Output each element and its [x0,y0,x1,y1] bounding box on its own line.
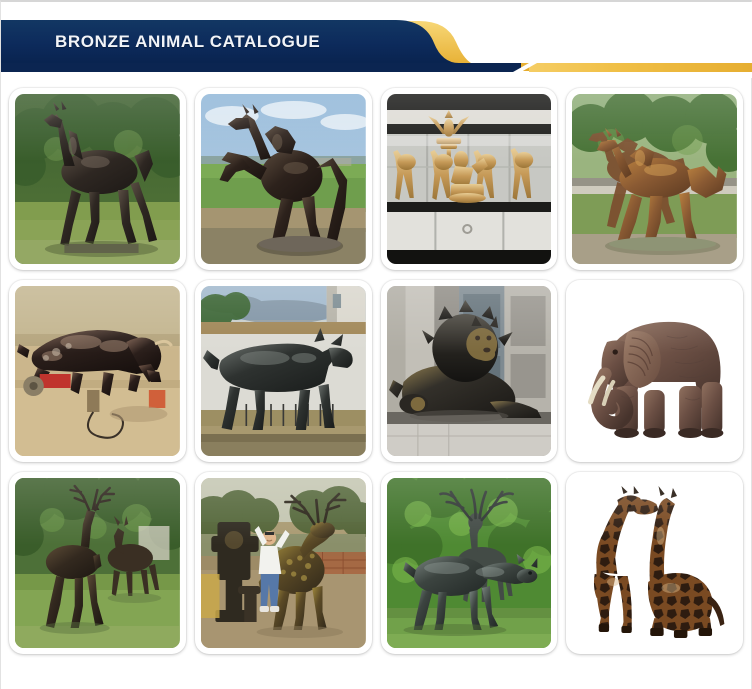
navy-bottom-bar [1,63,521,72]
thumbnail-horse-rearing [201,94,366,264]
thumbnail-elephant [572,286,737,456]
gold-bottom-bar [529,63,752,72]
thumbnail-quadriga [387,94,552,264]
gallery-card[interactable] [9,472,186,654]
thumbnail-elk-with-person [201,478,366,648]
gallery-card[interactable] [566,472,743,654]
gallery-card[interactable] [566,88,743,270]
thumbnail-horse-walking [15,94,180,264]
gallery-card[interactable] [9,280,186,462]
thumbnail-charging-bull [15,286,180,456]
page-title: BRONZE ANIMAL CATALOGUE [55,32,320,52]
gallery-card[interactable] [381,280,558,462]
thumbnail-two-deer [15,478,180,648]
header-banner: BRONZE ANIMAL CATALOGUE [1,2,752,78]
gallery-card[interactable] [195,472,372,654]
gallery-card[interactable] [195,88,372,270]
gallery-card[interactable] [381,472,558,654]
thumbnail-lion [387,286,552,456]
thumbnail-two-horses [572,94,737,264]
thumbnail-giraffes [572,478,737,648]
gallery-card[interactable] [9,88,186,270]
gallery-grid [1,78,751,666]
thumbnail-stag-and-doe [387,478,552,648]
gallery-card[interactable] [195,280,372,462]
catalogue-page: BRONZE ANIMAL CATALOGUE [0,0,752,689]
gallery-card[interactable] [566,280,743,462]
thumbnail-standing-bull [201,286,366,456]
gallery-card[interactable] [381,88,558,270]
